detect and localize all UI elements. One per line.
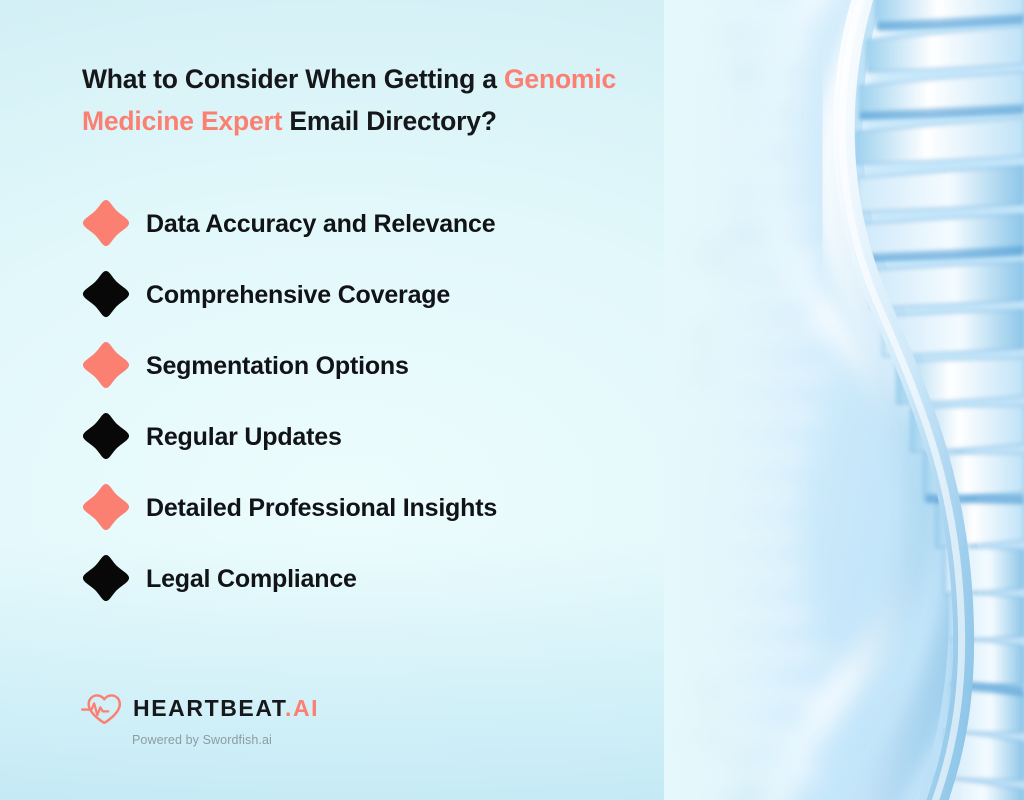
list-item-label: Segmentation Options	[146, 354, 409, 379]
headline-accent-genomic: Genomic	[504, 64, 616, 94]
squircle-bullet-icon	[82, 483, 130, 533]
list-item-label: Comprehensive Coverage	[146, 283, 450, 308]
squircle-bullet-icon	[82, 412, 130, 462]
infographic-content: What to Consider When Getting a GenomicM…	[0, 0, 1024, 800]
heartbeat-ai-logo[interactable]: HEARTBEAT.AI Powered by Swordfish.ai	[80, 690, 319, 747]
heartbeat-heart-icon	[80, 690, 122, 726]
list-item: Legal Compliance	[82, 553, 497, 605]
considerations-list: Data Accuracy and Relevance Comprehensiv…	[82, 198, 497, 624]
list-item: Comprehensive Coverage	[82, 269, 497, 321]
list-item: Detailed Professional Insights	[82, 482, 497, 534]
squircle-bullet-icon	[82, 341, 130, 391]
list-item: Regular Updates	[82, 411, 497, 463]
logo-wordmark-main: HEARTBEAT	[133, 695, 285, 721]
headline-accent-medicine-expert: Medicine Expert	[82, 106, 282, 136]
logo-wordmark: HEARTBEAT.AI	[133, 697, 319, 720]
headline-segment-1: What to Consider When Getting a	[82, 64, 504, 94]
headline-segment-2: Email Directory?	[282, 106, 497, 136]
list-item-label: Regular Updates	[146, 425, 342, 450]
page-title: What to Consider When Getting a GenomicM…	[82, 58, 762, 142]
squircle-bullet-icon	[82, 199, 130, 249]
squircle-bullet-icon	[82, 270, 130, 320]
list-item-label: Data Accuracy and Relevance	[146, 212, 495, 237]
logo-lockup: HEARTBEAT.AI	[80, 690, 319, 726]
list-item-label: Legal Compliance	[146, 567, 357, 592]
list-item: Segmentation Options	[82, 340, 497, 392]
logo-tagline: Powered by Swordfish.ai	[132, 733, 319, 747]
squircle-bullet-icon	[82, 554, 130, 604]
logo-wordmark-suffix: .AI	[285, 695, 319, 721]
list-item: Data Accuracy and Relevance	[82, 198, 497, 250]
list-item-label: Detailed Professional Insights	[146, 496, 497, 521]
